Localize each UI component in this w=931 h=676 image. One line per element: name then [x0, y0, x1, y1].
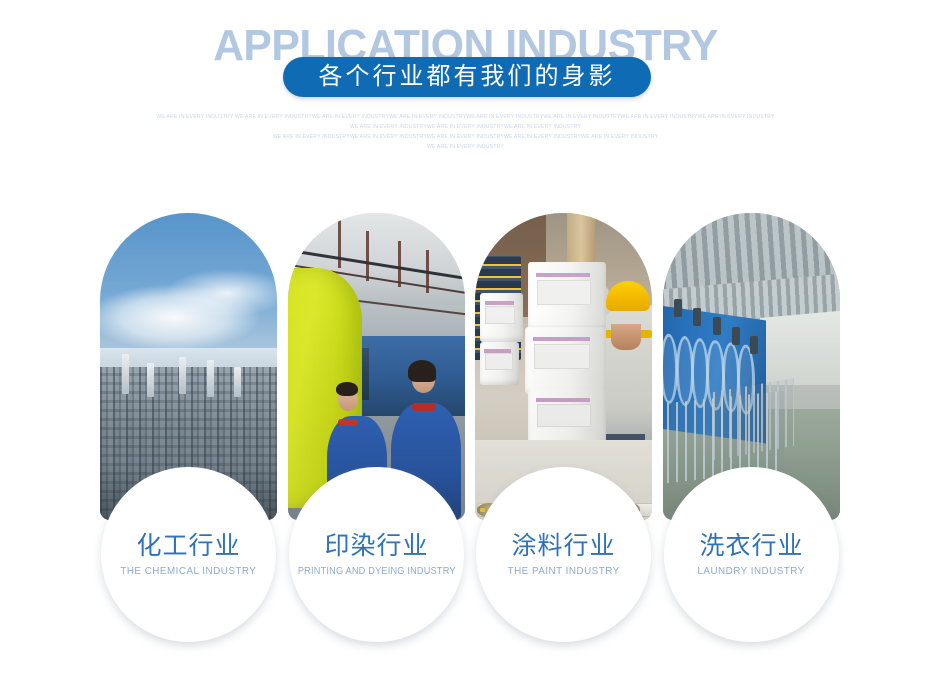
- industry-label-cn-printing-dyeing: 印染行业: [324, 531, 428, 561]
- industry-label-en-printing-dyeing: PRINTING AND DYEING INDUSTRY: [298, 565, 456, 578]
- micro-repeated-text: WE ARE IN EVERY INDUSTRY WE ARE IN EVERY…: [0, 112, 931, 152]
- industry-label-en-paint: THE PAINT INDUSTRY: [507, 565, 619, 578]
- industry-label-paint[interactable]: 涂料行业 THE PAINT INDUSTRY: [476, 467, 651, 642]
- micro-text-line-3: WE ARE IN EVERY INDUSTRYWE ARE IN EVERY …: [0, 132, 931, 142]
- header-section: APPLICATION INDUSTRY 各个行业都有我们的身影 WE ARE …: [0, 0, 931, 175]
- industry-label-en-chemical: THE CHEMICAL INDUSTRY: [120, 565, 256, 578]
- tagline-text: 各个行业都有我们的身影: [283, 57, 651, 97]
- industry-label-en-laundry: LAUNDRY INDUSTRY: [698, 565, 805, 578]
- industry-label-printing-dyeing[interactable]: 印染行业 PRINTING AND DYEING INDUSTRY: [289, 467, 464, 642]
- micro-text-line-2: WE ARE IN EVERY INDUSTRYWE ARE IN EVERY …: [0, 122, 931, 132]
- micro-text-line-4: WE ARE IN EVERY INDUSTRY: [0, 142, 931, 152]
- application-industry-banner: APPLICATION INDUSTRY 各个行业都有我们的身影 WE ARE …: [0, 0, 931, 676]
- micro-text-line-1: WE ARE IN EVERY INDUSTRY WE ARE IN EVERY…: [0, 112, 931, 122]
- industry-label-chemical[interactable]: 化工行业 THE CHEMICAL INDUSTRY: [101, 467, 276, 642]
- industry-label-cn-paint: 涂料行业: [511, 531, 615, 561]
- industry-label-cn-chemical: 化工行业: [136, 531, 240, 561]
- industry-label-cn-laundry: 洗衣行业: [699, 531, 803, 561]
- tagline-pill: 各个行业都有我们的身影: [283, 57, 651, 97]
- industry-label-laundry[interactable]: 洗衣行业 LAUNDRY INDUSTRY: [664, 467, 839, 642]
